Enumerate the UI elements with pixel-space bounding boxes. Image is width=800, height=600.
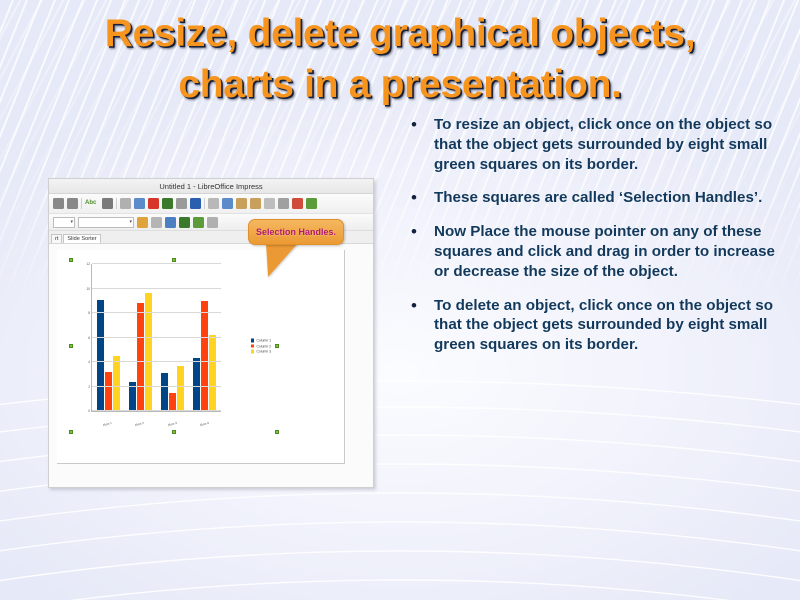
chart-bar-group	[97, 264, 120, 411]
selection-handle-bottom-center[interactable]	[172, 430, 176, 434]
chart-gridline: 8	[92, 312, 221, 313]
chart-bar-group	[129, 264, 152, 411]
undo-icon[interactable]	[53, 198, 64, 209]
chart-gridline: 6	[92, 337, 221, 338]
chart-bar-group	[161, 264, 184, 411]
toolbar-separator	[81, 198, 82, 209]
bullet-list: • To resize an object, click once on the…	[404, 115, 788, 369]
chart-bar-group	[193, 264, 216, 411]
tab-rt[interactable]: rt	[51, 234, 62, 243]
chart-y-tick-label: 8	[88, 311, 90, 315]
chart-legend-item: Column 1	[251, 339, 271, 343]
chart-x-tick-label: Row 1	[102, 421, 112, 427]
table-icon[interactable]	[120, 198, 131, 209]
crop-icon[interactable]	[151, 217, 162, 228]
chart-x-tick-label: Row 3	[167, 421, 177, 427]
bullet-marker-icon: •	[404, 222, 434, 242]
chart-gridline: 12	[92, 263, 221, 264]
pie-chart-icon[interactable]	[148, 198, 159, 209]
chart-gridline: 10	[92, 288, 221, 289]
chart-legend-label: Column 2	[256, 344, 271, 348]
bullet-marker-icon: •	[404, 188, 434, 208]
spellcheck-icon[interactable]: Abc	[85, 198, 99, 209]
slide-layout-icon[interactable]	[236, 198, 247, 209]
list-item: • Now Place the mouse pointer on any of …	[404, 222, 788, 281]
notes-icon[interactable]	[208, 198, 219, 209]
chart-legend-swatch	[251, 344, 255, 348]
chart-legend-label: Column 3	[256, 350, 271, 354]
tab-slide-sorter[interactable]: Slide Sorter	[63, 234, 100, 243]
chart-y-tick-label: 10	[86, 287, 90, 291]
toolbar-separator	[204, 198, 205, 209]
bullet-text: Now Place the mouse pointer on any of th…	[434, 222, 788, 281]
callout-tail	[260, 243, 298, 277]
find-replace-icon[interactable]	[102, 198, 113, 209]
chart-gridline: 2	[92, 386, 221, 387]
image-icon[interactable]	[134, 198, 145, 209]
arrange-icon[interactable]	[193, 217, 204, 228]
chart-gridline: 4	[92, 361, 221, 362]
editing-canvas-area[interactable]: 024681012 Row 1Row 2Row 3Row 4 Column 1C…	[49, 244, 373, 488]
list-item: • These squares are called ‘Selection Ha…	[404, 188, 788, 208]
bullet-marker-icon: •	[404, 296, 434, 316]
callout-label: Selection Handles.	[256, 227, 336, 237]
chart-gridline: 0	[92, 410, 221, 411]
chart-object[interactable]: 024681012 Row 1Row 2Row 3Row 4 Column 1C…	[71, 260, 277, 432]
list-item: • To delete an object, click once on the…	[404, 296, 788, 355]
redo-icon[interactable]	[67, 198, 78, 209]
chart-legend-item: Column 3	[251, 350, 271, 354]
chart-legend: Column 1Column 2Column 3	[251, 339, 271, 354]
chart-legend-swatch	[251, 350, 255, 354]
new-slide-icon[interactable]	[292, 198, 303, 209]
fill-style-select[interactable]: ▾	[53, 217, 75, 228]
chart-y-tick-label: 4	[88, 360, 90, 364]
bullet-text: To resize an object, click once on the o…	[434, 115, 788, 174]
filter-icon[interactable]	[165, 217, 176, 228]
chart-y-tick-label: 6	[88, 336, 90, 340]
start-slideshow-icon[interactable]	[264, 198, 275, 209]
textbox-icon[interactable]	[176, 198, 187, 209]
bullet-text: These squares are called ‘Selection Hand…	[434, 188, 788, 208]
bullet-text: To delete an object, click once on the o…	[434, 296, 788, 355]
chart-legend-label: Column 1	[256, 339, 271, 343]
chart-bar	[97, 300, 104, 411]
distribute-icon[interactable]	[207, 217, 218, 228]
chart-bar	[169, 393, 176, 411]
chart-plot-area: 024681012	[91, 264, 221, 412]
chart-bar	[201, 301, 208, 411]
slide-canvas[interactable]: 024681012 Row 1Row 2Row 3Row 4 Column 1C…	[57, 250, 345, 464]
chart-x-tick-label: Row 2	[135, 421, 145, 427]
align-left-icon[interactable]	[179, 217, 190, 228]
chart-legend-item: Column 2	[251, 344, 271, 348]
chart-bar	[113, 356, 120, 411]
toolbar-separator	[116, 198, 117, 209]
selection-handle-middle-left[interactable]	[69, 344, 73, 348]
selection-handle-bottom-left[interactable]	[69, 430, 73, 434]
toolbar-primary[interactable]: Abc	[49, 194, 373, 214]
chart-bar	[105, 372, 112, 411]
embedded-screenshot-impress: Untitled 1 - LibreOffice Impress Abc ▾▾ …	[48, 178, 374, 488]
chart-y-tick-label: 0	[88, 409, 90, 413]
chart-bar	[209, 335, 216, 411]
selection-handle-top-center[interactable]	[172, 258, 176, 262]
window-titlebar: Untitled 1 - LibreOffice Impress	[49, 179, 373, 194]
chart-bars	[92, 264, 221, 411]
display-views-icon[interactable]	[222, 198, 233, 209]
shadow-icon[interactable]	[137, 217, 148, 228]
master-slide-icon[interactable]	[250, 198, 261, 209]
chart-legend-swatch	[251, 339, 255, 343]
chart-bar	[161, 373, 168, 411]
hyperlink-icon[interactable]	[190, 198, 201, 209]
chart-y-tick-label: 2	[88, 385, 90, 389]
presentation-slide: Resize, delete graphical objects, charts…	[0, 0, 800, 600]
window-title: Untitled 1 - LibreOffice Impress	[159, 182, 262, 191]
gallery-icon[interactable]	[278, 198, 289, 209]
chart-x-axis-labels: Row 1Row 2Row 3Row 4	[91, 422, 221, 426]
chart-x-tick-label: Row 4	[200, 421, 210, 427]
duplicate-slide-icon[interactable]	[306, 198, 317, 209]
selection-handle-bottom-right[interactable]	[275, 430, 279, 434]
bullet-marker-icon: •	[404, 115, 434, 135]
bar-chart-icon[interactable]	[162, 198, 173, 209]
selection-handle-top-left[interactable]	[69, 258, 73, 262]
chart-bar	[137, 303, 144, 411]
slide-title: Resize, delete graphical objects, charts…	[24, 8, 776, 111]
chart-bar	[177, 366, 184, 411]
chart-y-tick-label: 12	[86, 262, 90, 266]
callout-balloon: Selection Handles.	[248, 219, 344, 245]
list-item: • To resize an object, click once on the…	[404, 115, 788, 174]
fill-color-select[interactable]: ▾	[78, 217, 134, 228]
selection-handle-middle-right[interactable]	[275, 344, 279, 348]
